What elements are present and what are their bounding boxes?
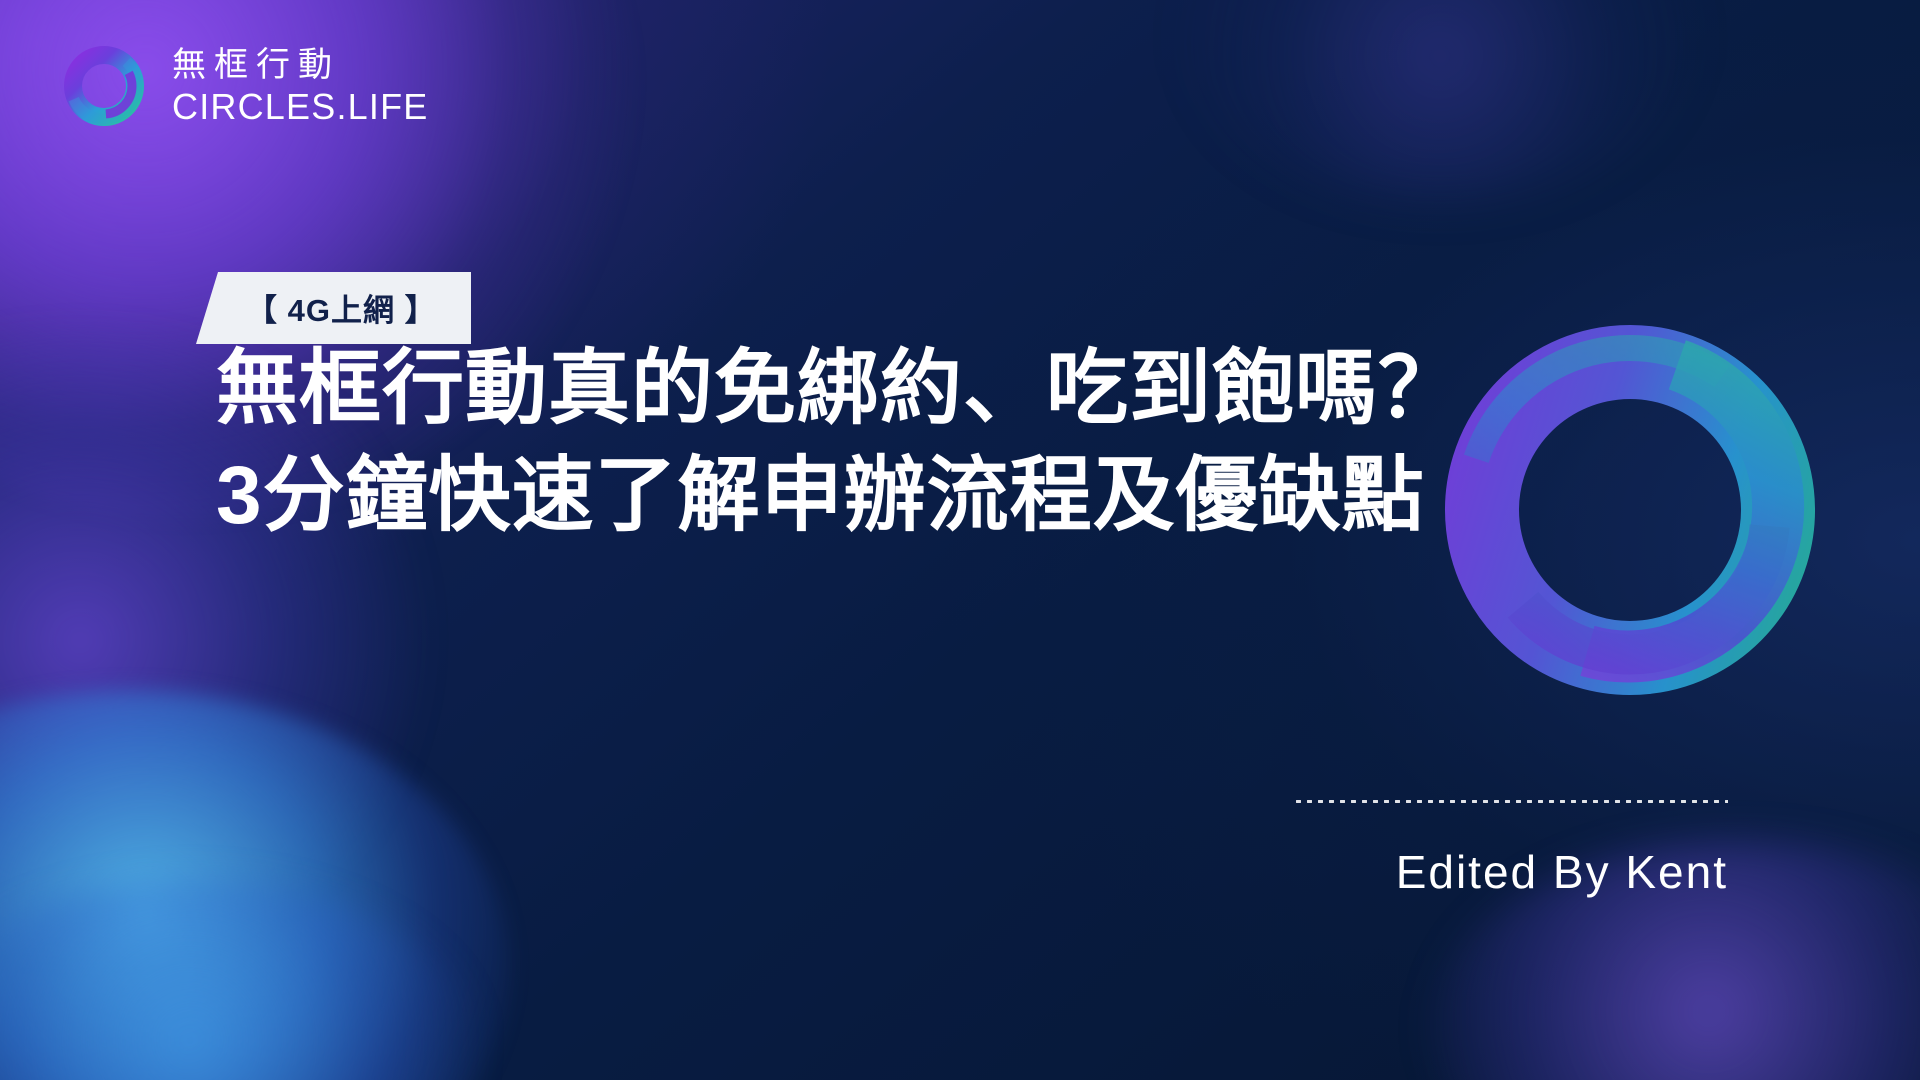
headline-line-1: 無框行動真的免綁約、吃到飽嗎？ [216, 336, 1516, 443]
badge-label: 【 4G上網 】 [246, 293, 437, 328]
brand-logo[interactable]: 無框行動 CIRCLES.LIFE [58, 40, 428, 132]
badge-shape: 【 4G上網 】 [222, 272, 471, 344]
headline: 無框行動真的免綁約、吃到飽嗎？ 3分鐘快速了解申辦流程及優缺點 [216, 336, 1516, 549]
headline-line-2: 3分鐘快速了解申辦流程及優缺點 [216, 443, 1516, 550]
brand-name-en: CIRCLES.LIFE [172, 87, 428, 127]
brand-logo-text: 無框行動 CIRCLES.LIFE [172, 46, 428, 127]
brand-name-cn: 無框行動 [172, 46, 428, 85]
category-badge: 【 4G上網 】 [222, 272, 471, 344]
dotted-divider-icon [1293, 800, 1728, 803]
circles-life-ring-logo-icon [58, 40, 150, 132]
credit-text: Edited By Kent [1288, 847, 1728, 898]
social-card-canvas: 無框行動 CIRCLES.LIFE 【 4G上網 】 無框行動真的免綁約、吃到飽… [0, 0, 1920, 1080]
credit-block: Edited By Kent [1288, 800, 1728, 898]
